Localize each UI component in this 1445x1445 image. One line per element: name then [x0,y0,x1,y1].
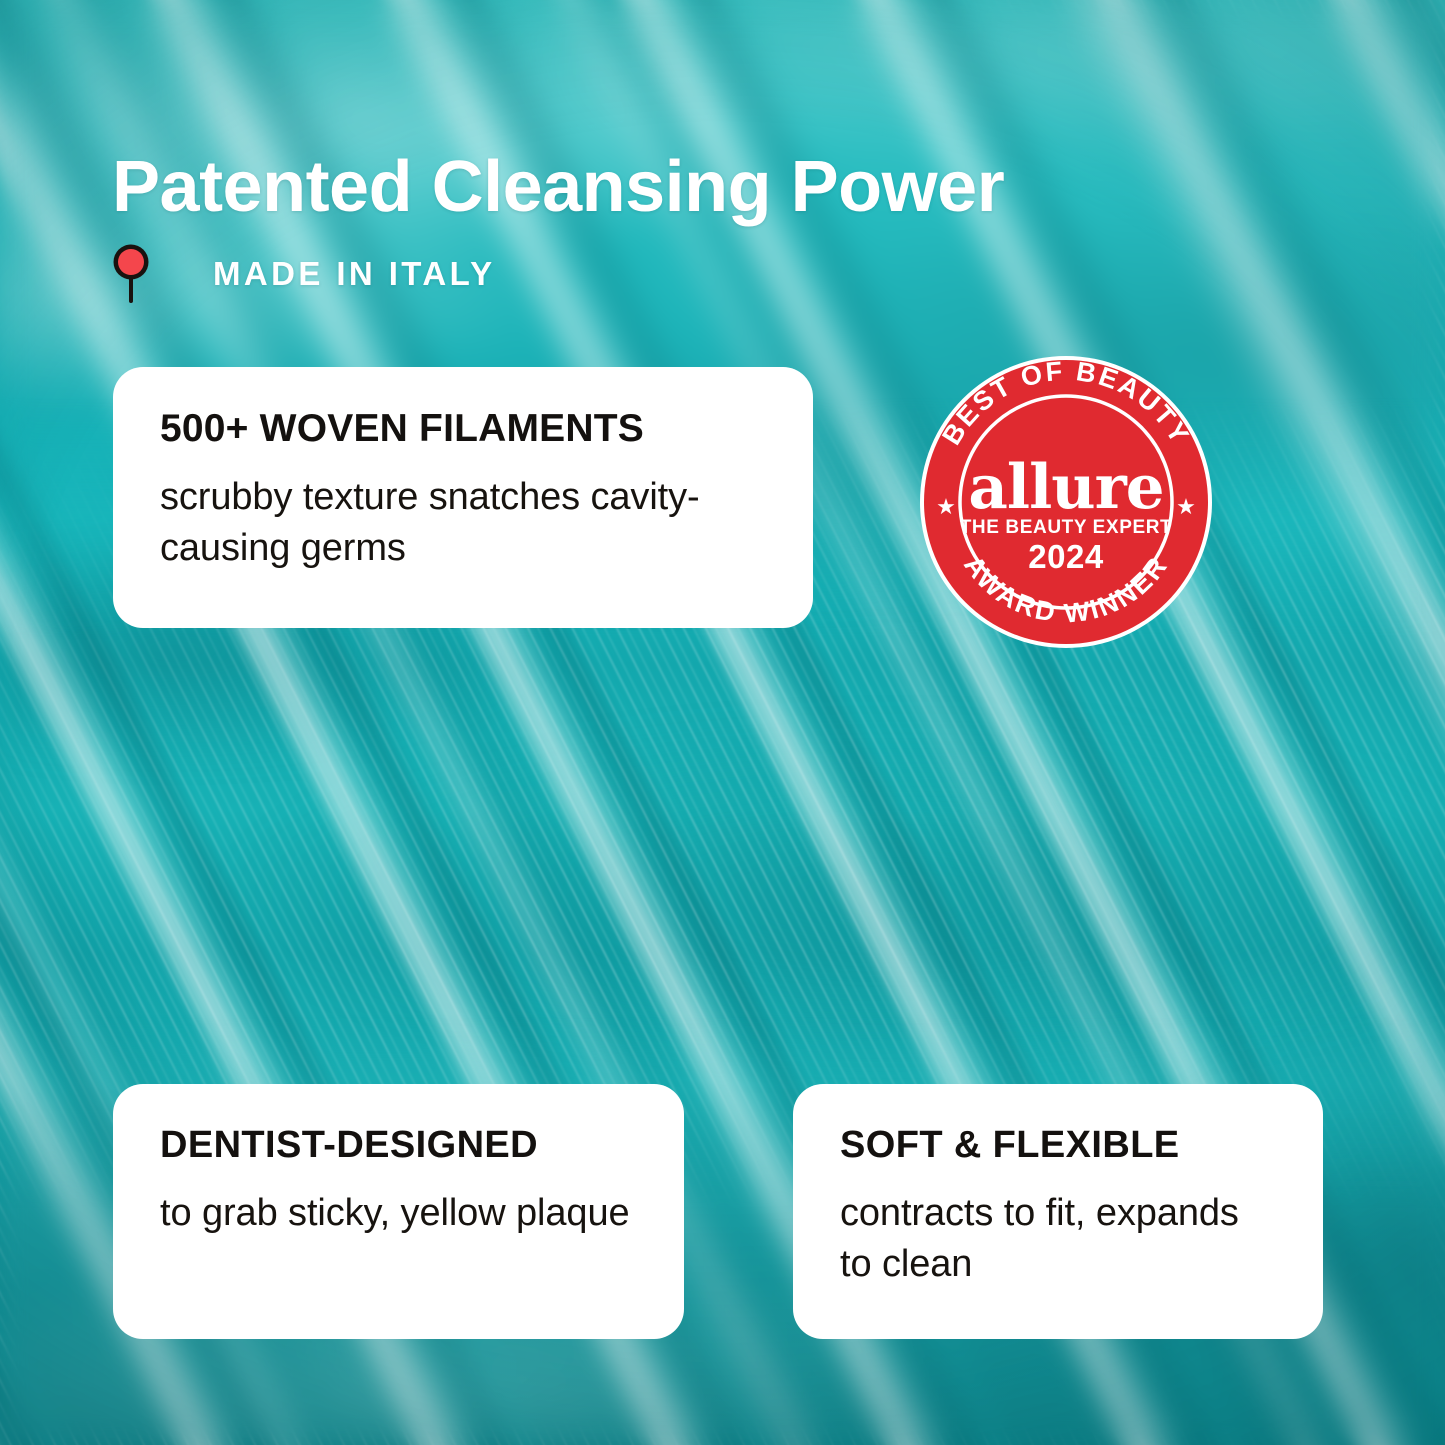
feature-card-title: 500+ WOVEN FILAMENTS [160,409,769,450]
badge-star-right-icon: ★ [1176,494,1196,519]
feature-card-body: contracts to fit, expands to clean [840,1188,1279,1290]
badge-star-left-icon: ★ [936,494,956,519]
made-in-italy-label: MADE IN ITALY [213,255,496,293]
feature-card-body: to grab sticky, yellow plaque [160,1188,640,1239]
poster-content: Patented Cleansing Power MADE IN ITALY 5… [0,0,1445,1445]
feature-card-body: scrubby texture snatches cavity-causing … [160,472,769,574]
feature-card-title: SOFT & FLEXIBLE [840,1126,1279,1166]
feature-card-dentist-designed: DENTIST-DESIGNED to grab sticky, yellow … [113,1084,684,1339]
feature-card-soft-flexible: SOFT & FLEXIBLE contracts to fit, expand… [793,1084,1323,1339]
page-title: Patented Cleansing Power [112,151,1004,223]
badge-brand-wordmark: allure [968,452,1163,523]
made-in-italy-row: MADE IN ITALY [112,243,496,305]
badge-year: 2024 [1028,538,1104,575]
feature-card-title: DENTIST-DESIGNED [160,1126,640,1166]
badge-tagline: THE BEAUTY EXPERT [960,517,1173,538]
product-feature-poster: Patented Cleansing Power MADE IN ITALY 5… [0,0,1445,1445]
allure-best-of-beauty-award-badge: BEST OF BEAUTY AWARD WINNER ★ ★ allure T… [916,352,1216,652]
allure-badge-graphic: BEST OF BEAUTY AWARD WINNER ★ ★ allure T… [916,352,1216,652]
map-pin-icon [112,243,150,305]
feature-card-filaments: 500+ WOVEN FILAMENTS scrubby texture sna… [113,367,813,628]
